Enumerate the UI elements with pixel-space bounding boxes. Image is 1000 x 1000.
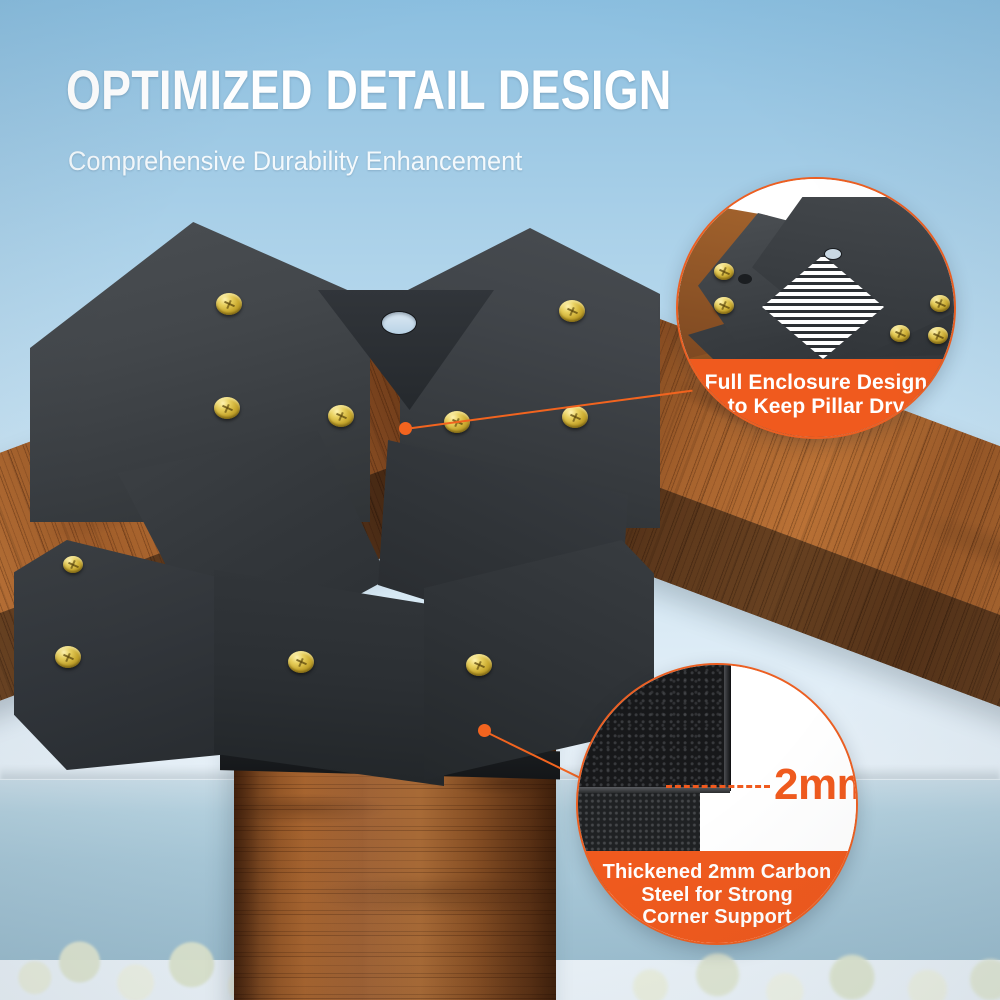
callout-1-banner: Full Enclosure Design to Keep Pillar Dry: [678, 359, 954, 437]
page-title: OPTIMIZED DETAIL DESIGN: [66, 62, 672, 118]
product-marketing-image: Full Enclosure Design to Keep Pillar Dry…: [0, 0, 1000, 1000]
callout-full-enclosure[interactable]: Full Enclosure Design to Keep Pillar Dry: [676, 177, 956, 439]
callout-2-steel-upper: [578, 663, 730, 789]
callout-1-screw: [928, 327, 948, 344]
callout-1-screw: [714, 263, 734, 280]
callout-1-screw: [714, 297, 734, 314]
callout-thickened-steel[interactable]: 2mm Thickened 2mm Carbon Steel for Stron…: [576, 663, 858, 945]
page-subtitle: Comprehensive Durability Enhancement: [68, 145, 522, 177]
screw-fastener: [55, 646, 81, 668]
callout-2-measure-dashes: [666, 785, 770, 788]
callout-2-banner: Thickened 2mm Carbon Steel for Strong Co…: [578, 851, 856, 943]
screw-fastener: [214, 397, 240, 419]
screw-fastener: [216, 293, 242, 315]
callout-1-screw: [930, 295, 950, 312]
callout-1-banner-line-1: Full Enclosure Design: [678, 371, 954, 395]
callout-1-drain-hole: [825, 249, 841, 259]
callout-1-screw: [890, 325, 910, 342]
callout-2-steel-edge: [724, 663, 731, 791]
screw-fastener: [288, 651, 314, 673]
screw-fastener: [328, 405, 354, 427]
callout-2-banner-line-1: Thickened 2mm Carbon: [578, 861, 856, 884]
screw-fastener: [562, 406, 588, 428]
callout-2-thickness-label: 2mm: [774, 763, 858, 807]
screw-fastener: [63, 556, 83, 573]
callout-2-banner-line-2: Steel for Strong: [578, 884, 856, 907]
callout-1-banner-line-2: to Keep Pillar Dry: [678, 395, 954, 419]
screw-fastener: [559, 300, 585, 322]
screw-fastener: [466, 654, 492, 676]
callout-1-bolt-hole: [738, 274, 752, 284]
callout-2-banner-line-3: Corner Support: [578, 906, 856, 929]
bracket-center-drain-hole: [382, 312, 416, 334]
